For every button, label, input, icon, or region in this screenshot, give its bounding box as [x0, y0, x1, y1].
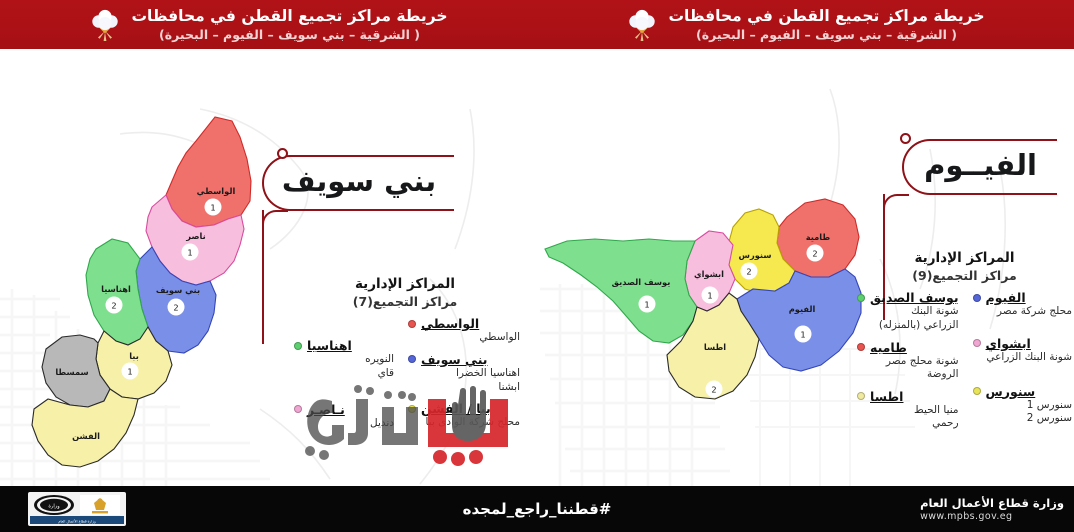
legend-center-name: يوسف الصديق: [870, 290, 959, 305]
svg-text:الفشن: الفشن: [72, 431, 100, 442]
header-text-block-right: خريطة مراكز تجميع القطن في محافظات ( الش…: [668, 7, 984, 43]
legend-title-row: سنورس: [973, 384, 1072, 399]
legend-site-item: الواسطي: [408, 331, 520, 345]
legend-group[interactable]: طاميه شونة محلج مصر الروضة: [857, 340, 959, 382]
legend-title-row: اهناسيا: [294, 338, 394, 353]
cotton-boll-icon: [89, 8, 121, 42]
footer-ministry-block: وزارة قطاع الأعمال العام www.mpbs.gov.eg: [920, 486, 1064, 532]
svg-text:1: 1: [187, 248, 192, 258]
legend-site-item: قاي: [294, 367, 394, 381]
legend-fayoum: المراكز الإدارية مراكز التجميع(9) الفيوم…: [857, 249, 1072, 438]
svg-text:اطسا: اطسا: [704, 342, 726, 352]
legend-title-row: بني سويف: [408, 352, 520, 367]
svg-text:1: 1: [644, 300, 649, 310]
legend-site-item: سنورس 2: [973, 412, 1072, 426]
title-pill-stem-beni-suef: [262, 210, 288, 344]
svg-text:ابشواي: ابشواي: [694, 269, 724, 280]
page-header: خريطة مراكز تجميع القطن في محافظات ( الش…: [0, 0, 1074, 49]
legend-group[interactable]: الفيوم محلج شركة مصر: [973, 290, 1072, 319]
legend-center-name: طاميه: [870, 340, 907, 355]
legend-group[interactable]: اطسا منيا الحيط رحمي: [857, 389, 959, 431]
svg-text:2: 2: [111, 301, 116, 311]
legend-group[interactable]: سنورس سنورس 1 سنورس 2: [973, 384, 1072, 426]
legend-title-row: ببا / الفشن: [408, 401, 520, 416]
svg-text:سنورس: سنورس: [739, 250, 772, 261]
header-subtitle-left: ( الشرقية – بني سويف – الفيوم – البحيرة): [159, 27, 420, 43]
legend-title-row: ابشواي: [973, 336, 1072, 351]
legend-group[interactable]: ببا / الفشن محلج شركة الوادى ببا: [408, 401, 520, 430]
cotton-boll-icon: [626, 8, 658, 42]
legend-column-right-beni-suef: الواسطي الواسطي بني سويف اهناسيا الخضرا: [408, 316, 520, 437]
legend-color-dot-icon: [857, 294, 865, 302]
legend-center-name: الواسطي: [421, 316, 479, 331]
legend-title-row: طاميه: [857, 340, 959, 355]
svg-text:1: 1: [707, 291, 712, 301]
legend-center-name: اهناسيا: [307, 338, 352, 353]
legend-color-dot-icon: [408, 405, 416, 413]
panel-title-beni-suef: بني سويف: [268, 164, 450, 198]
legend-site-item: شونة محلج مصر: [857, 355, 959, 369]
legend-site-item: اهناسيا الخضرا: [408, 367, 520, 381]
legend-columns-beni-suef: الواسطي الواسطي بني سويف اهناسيا الخضرا: [290, 316, 520, 437]
svg-text:الواسطي: الواسطي: [197, 186, 236, 197]
legend-column-left-beni-suef: اهناسيا النويره قاي نـاصـر دنديل: [294, 316, 394, 437]
legend-center-name: ببا / الفشن: [421, 401, 491, 416]
legend-group[interactable]: ابشواي شونة البنك الزراعي: [973, 336, 1072, 365]
header-text-block-left: خريطة مراكز تجميع القطن في محافظات ( الش…: [131, 7, 447, 43]
screenshot-root: خريطة مراكز تجميع القطن في محافظات ( الش…: [0, 0, 1074, 532]
title-pill-stem-top-beni-suef: [262, 210, 288, 226]
legend-color-dot-icon: [408, 320, 416, 328]
legend-group[interactable]: نـاصـر دنديل: [294, 402, 394, 431]
header-subtitle-right: ( الشرقية – بني سويف – الفيوم – البحيرة): [696, 27, 957, 43]
map-canvas: الواسطي ناصر بني سويف اهناسيا: [0, 49, 1074, 486]
legend-color-dot-icon: [294, 342, 302, 350]
legend-site-item: سنورس 1: [973, 399, 1072, 413]
legend-color-dot-icon: [294, 405, 302, 413]
legend-site-item: رحمي: [857, 417, 959, 431]
title-pill-node-beni-suef: [277, 148, 288, 159]
legend-heading-fayoum: المراكز الإدارية: [857, 249, 1072, 267]
svg-text:طامية: طامية: [806, 232, 831, 242]
svg-text:1: 1: [800, 330, 805, 340]
legend-title-row: اطسا: [857, 389, 959, 404]
legend-column-right-fayoum: الفيوم محلج شركة مصر ابشواي شونة البنك ا…: [973, 290, 1072, 438]
legend-site-item: شونة البنك: [857, 305, 959, 319]
title-pill-stem-top-fayoum: [883, 194, 909, 210]
header-title-left: خريطة مراكز تجميع القطن في محافظات: [131, 7, 447, 26]
svg-text:الفيوم: الفيوم: [789, 304, 816, 315]
svg-text:بني سويف: بني سويف: [156, 285, 200, 296]
legend-column-left-fayoum: يوسف الصديق شونة البنك الزراعي (بالمنزله…: [857, 290, 959, 438]
legend-color-dot-icon: [973, 294, 981, 302]
page-footer: وزارة قطاع الأعمال العام وزارة #قطننا_را…: [0, 486, 1074, 532]
svg-text:2: 2: [812, 249, 817, 259]
svg-text:2: 2: [173, 303, 178, 313]
legend-center-name: سنورس: [986, 384, 1036, 399]
svg-text:اهناسيا: اهناسيا: [101, 284, 131, 294]
legend-site-item: دنديل: [294, 417, 394, 431]
map-region-youssef-seddik: يوسف الصديق: [545, 239, 697, 343]
legend-site-item: ابشنا: [408, 381, 520, 395]
map-region-ehnasya: اهناسيا: [86, 239, 148, 345]
legend-color-dot-icon: [857, 392, 865, 400]
legend-site-item: منيا الحيط: [857, 404, 959, 418]
legend-title-row: يوسف الصديق: [857, 290, 959, 305]
svg-text:ناصر: ناصر: [185, 231, 205, 242]
legend-site-item: الزراعي (بالمنزله): [857, 319, 959, 333]
footer-website-url[interactable]: www.mpbs.gov.eg: [920, 511, 1012, 522]
footer-ministry-name: وزارة قطاع الأعمال العام: [920, 496, 1064, 510]
legend-title-row: الواسطي: [408, 316, 520, 331]
footer-hashtag: #قطننا_راجع_لمجده: [0, 486, 1074, 532]
legend-sub-fayoum: مراكز التجميع(9): [857, 268, 1072, 283]
legend-group[interactable]: يوسف الصديق شونة البنك الزراعي (بالمنزله…: [857, 290, 959, 332]
legend-group[interactable]: بني سويف اهناسيا الخضرا ابشنا: [408, 352, 520, 394]
title-pill-node-fayoum: [900, 133, 911, 144]
legend-group[interactable]: الواسطي الواسطي: [408, 316, 520, 345]
legend-center-name: نـاصـر: [307, 402, 345, 417]
svg-text:2: 2: [746, 267, 751, 277]
legend-site-item: محلج شركة الوادى ببا: [408, 416, 520, 430]
header-half-left: خريطة مراكز تجميع القطن في محافظات ( الش…: [0, 0, 537, 49]
legend-site-item: شونة البنك الزراعي: [973, 351, 1072, 365]
svg-text:2: 2: [711, 385, 716, 395]
svg-text:يوسف الصديق: يوسف الصديق: [612, 277, 671, 288]
legend-beni-suef: المراكز الإدارية مراكز التجميع(7) الواسط…: [290, 275, 520, 437]
legend-title-row: نـاصـر: [294, 402, 394, 417]
svg-text:سمسطا: سمسطا: [55, 367, 88, 377]
header-half-right: خريطة مراكز تجميع القطن في محافظات ( الش…: [537, 0, 1074, 49]
legend-center-name: اطسا: [870, 389, 903, 404]
title-pill-fayoum: الفيــوم: [902, 139, 1057, 195]
legend-site-item: النويره: [294, 353, 394, 367]
svg-text:1: 1: [210, 203, 215, 213]
legend-center-name: ابشواي: [986, 336, 1031, 351]
header-title-right: خريطة مراكز تجميع القطن في محافظات: [668, 7, 984, 26]
panel-beni-suef: الواسطي ناصر بني سويف اهناسيا: [0, 49, 537, 486]
svg-text:ببا: ببا: [129, 351, 139, 361]
legend-columns-fayoum: الفيوم محلج شركة مصر ابشواي شونة البنك ا…: [857, 290, 1072, 438]
panel-fayoum: طامية سنورس ابشواي يوسف الصديق: [537, 49, 1074, 486]
legend-group[interactable]: اهناسيا النويره قاي: [294, 338, 394, 380]
legend-site-item: محلج شركة مصر: [973, 305, 1072, 319]
legend-color-dot-icon: [408, 355, 416, 363]
svg-text:1: 1: [127, 367, 132, 377]
legend-color-dot-icon: [857, 343, 865, 351]
title-pill-beni-suef: بني سويف: [262, 155, 454, 211]
legend-title-row: الفيوم: [973, 290, 1072, 305]
legend-color-dot-icon: [973, 387, 981, 395]
legend-center-name: بني سويف: [421, 352, 488, 367]
panel-title-fayoum: الفيــوم: [910, 148, 1051, 182]
legend-sub-beni-suef: مراكز التجميع(7): [290, 294, 520, 309]
legend-center-name: الفيوم: [986, 290, 1026, 305]
legend-color-dot-icon: [973, 339, 981, 347]
legend-heading-beni-suef: المراكز الإدارية: [290, 275, 520, 293]
legend-site-item: الروضة: [857, 368, 959, 382]
